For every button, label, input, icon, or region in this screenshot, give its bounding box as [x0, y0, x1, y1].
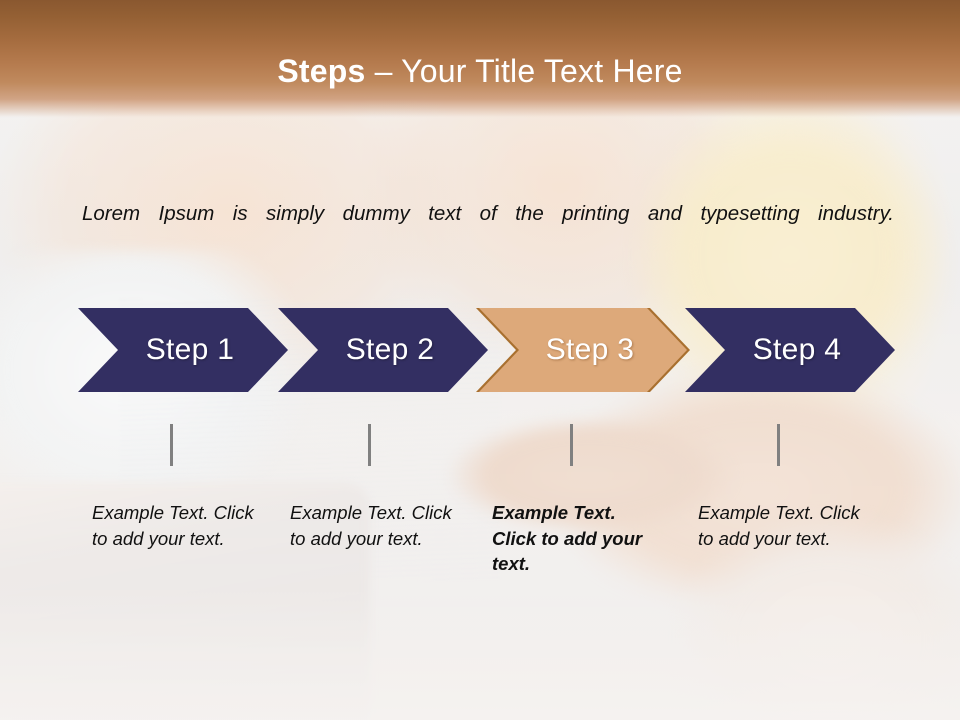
step-caption-4[interactable]: Example Text. Click to add your text. — [698, 500, 863, 551]
step-chevron-1[interactable]: Step 1 — [78, 308, 288, 392]
step-caption-1[interactable]: Example Text. Click to add your text. — [92, 500, 257, 551]
steps-chevron-row: Step 1 Step 2 Step 3 Step 4 — [0, 308, 960, 392]
step-label-4: Step 4 — [739, 333, 842, 367]
step-tick-4 — [777, 424, 780, 466]
step-tick-3 — [570, 424, 573, 466]
step-caption-2[interactable]: Example Text. Click to add your text. — [290, 500, 455, 551]
step-chevron-3[interactable]: Step 3 — [479, 308, 687, 392]
page-title-rest: – Your Title Text Here — [366, 53, 683, 89]
page-title: Steps – Your Title Text Here — [0, 52, 960, 90]
step-label-1: Step 1 — [132, 333, 235, 367]
step-chevron-4[interactable]: Step 4 — [685, 308, 895, 392]
title-bar: Steps – Your Title Text Here — [0, 0, 960, 118]
step-caption-3[interactable]: Example Text. Click to add your text. — [492, 500, 657, 577]
step-tick-2 — [368, 424, 371, 466]
slide-canvas: Steps – Your Title Text Here Lorem Ipsum… — [0, 0, 960, 720]
step-chevron-2[interactable]: Step 2 — [278, 308, 488, 392]
step-tick-1 — [170, 424, 173, 466]
lead-paragraph: Lorem Ipsum is simply dummy text of the … — [82, 196, 894, 266]
step-label-3: Step 3 — [532, 333, 635, 367]
step-label-2: Step 2 — [332, 333, 435, 367]
page-title-strong: Steps — [277, 53, 365, 89]
